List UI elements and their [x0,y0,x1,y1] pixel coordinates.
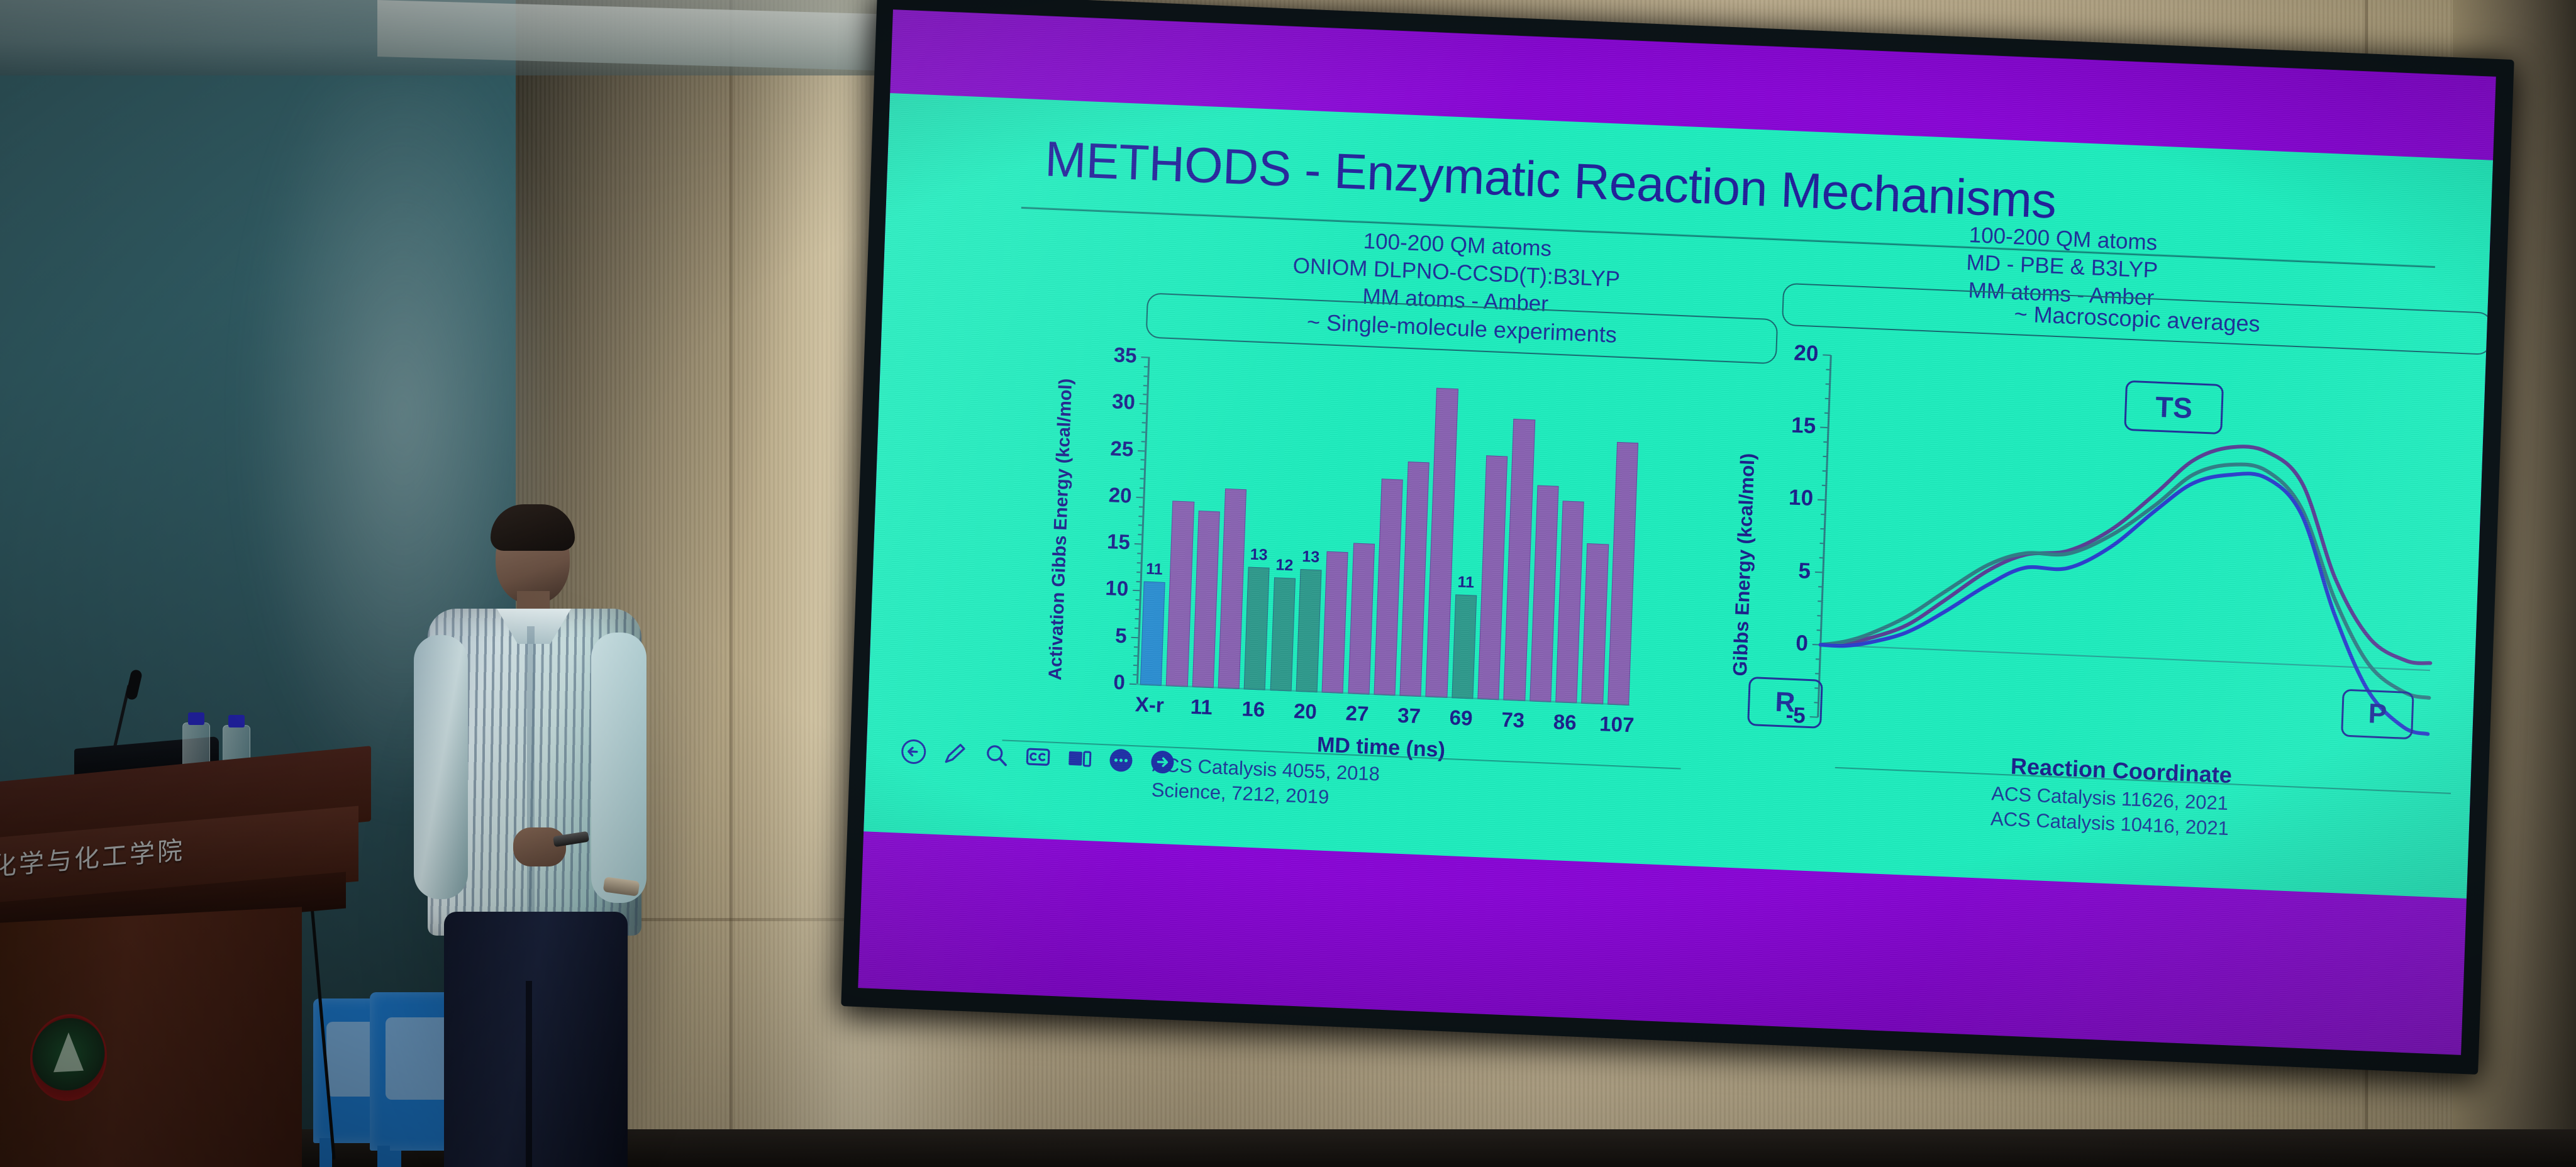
y-axis-tick [1135,609,1139,610]
pen-icon[interactable] [942,740,968,766]
x-axis-tick-label: 86 [1538,709,1592,736]
bar [1192,511,1219,689]
presenter-hair [491,504,575,551]
y-axis-tick [1141,460,1145,461]
bar-value-label: 11 [1140,560,1169,579]
bar-value-label: 12 [1270,556,1299,575]
energy-profile-curve [1821,429,2438,670]
y-axis-tick-label: 5 [1752,556,1811,584]
y-axis-tick [1138,450,1145,451]
y-axis-tick [1133,665,1137,666]
y-axis-tick [1140,478,1143,479]
y-axis-tick-label: 15 [1078,528,1130,554]
wall-mounted-display: METHODS - Enzymatic Reaction Mechanisms … [841,0,2514,1075]
y-axis-tick [1138,534,1141,535]
slide-body: METHODS - Enzymatic Reaction Mechanisms … [863,93,2493,899]
y-axis-tick-label: -5 [1747,701,1806,729]
bar [1452,594,1477,699]
x-axis-tick-label: 11 [1175,694,1229,721]
bar [1607,442,1638,705]
y-axis-tick [1136,599,1140,600]
y-axis-tick-label: 10 [1077,575,1129,601]
y-axis-tick [1139,506,1143,507]
bar [1504,419,1535,701]
bar [1244,567,1270,690]
bar-value-label: 13 [1245,545,1273,565]
bar [1296,569,1321,692]
bar [1582,543,1609,704]
y-axis-tick [1141,357,1148,358]
x-axis-tick-label: 107 [1590,711,1644,738]
x-axis-tick-label: 16 [1226,696,1280,722]
screenshot-root: METHODS - Enzymatic Reaction Mechanisms … [0,0,2576,1167]
y-axis-tick [1141,431,1145,433]
y-axis-tick [1136,581,1140,582]
previous-slide-arrow-icon[interactable] [901,739,926,765]
y-axis-tick-label: 25 [1082,435,1134,461]
y-axis-tick [1130,683,1136,685]
y-axis-tick [1135,543,1141,545]
y-axis-tick-label: 20 [1760,339,1819,367]
y-axis-tick [1137,553,1141,554]
y-axis-tick-label: 0 [1073,668,1125,694]
presenter-right-arm [591,633,647,903]
y-axis-tick [1143,375,1147,377]
y-axis-tick [1140,487,1143,489]
y-axis-tick [1138,516,1142,517]
y-axis-tick [1143,394,1146,395]
presenter-trousers [444,912,628,1167]
bar-value-label: 13 [1297,548,1325,567]
y-axis-tick [1140,403,1146,404]
bar [1140,581,1165,686]
y-axis-title: Activation Gibbs Energy (kcal/mol) [1045,378,1077,680]
presenter-shirt-placket [527,626,535,928]
display-screen: METHODS - Enzymatic Reaction Mechanisms … [858,9,2496,1055]
x-axis-tick-label: 69 [1434,705,1488,731]
y-axis-tick [1133,590,1140,591]
y-axis-tick [1140,468,1144,470]
presenter-leg-split [526,981,532,1167]
bar [1166,501,1194,687]
energy-profile-curve [1819,447,2437,698]
lectern: 化学与化工学院 [0,764,384,1167]
x-axis-tick-label: 37 [1382,703,1436,729]
energy-profile-plot [1696,335,2460,819]
y-axis-tick [1134,646,1138,648]
y-axis-tick-label: 15 [1758,411,1816,439]
x-axis-tick-label: 73 [1486,707,1540,734]
x-axis-tick-label: 27 [1330,700,1384,727]
y-axis-tick-label: 10 [1755,484,1813,512]
next-slide-arrow-icon[interactable] [1150,749,1175,775]
more-options-icon[interactable] [1108,747,1134,773]
bar [1400,462,1430,697]
closed-caption-icon[interactable] [1025,744,1051,770]
presenter-left-arm [414,635,468,899]
y-axis-tick-label: 35 [1085,341,1137,367]
y-axis-tick [1135,628,1138,629]
y-axis-tick [1138,525,1142,526]
bar [1348,543,1375,695]
bar-chart: 05101520253035Activation Gibbs Energy (k… [1018,338,1667,780]
x-axis-tick-label: X-r [1123,692,1177,718]
y-axis-tick [1133,674,1136,675]
citation-left-2: Science, 7212, 2019 [1151,778,1330,809]
bottle-cap [228,715,245,727]
wood-seam [730,0,733,1167]
bar [1374,479,1402,696]
y-axis-tick [1135,618,1139,619]
bar [1218,488,1247,689]
presenter [402,503,667,1167]
x-axis-tick-label: 20 [1279,699,1333,725]
bottle-cap [188,712,204,725]
bar [1555,501,1584,704]
y-axis-tick-label: 30 [1083,389,1135,414]
bar [1322,551,1348,694]
energy-profile-chart: TS R P -505101520Gibbs Energy (kcal/mol)… [1696,335,2460,819]
emblem-tree-icon [53,1032,84,1073]
bar [1270,577,1296,692]
y-axis-tick [1144,366,1148,367]
y-axis-tick [1142,422,1146,423]
cable [309,890,335,1160]
y-axis-tick [1131,636,1138,638]
bar [1529,485,1558,702]
annotation-p: P [2341,689,2414,740]
magnifier-icon[interactable] [984,742,1009,768]
y-axis-tick [1133,655,1137,656]
y-axis-tick [1143,385,1147,386]
y-axis-tick-label: 5 [1075,622,1127,648]
bar-value-label: 11 [1452,573,1480,592]
slide-view-icon[interactable] [1067,746,1092,772]
y-axis-tick-label: 20 [1080,482,1132,507]
annotation-ts: TS [2124,380,2224,434]
y-axis-tick [1136,497,1143,498]
y-axis-tick [1142,412,1146,414]
presenter-hand [513,827,566,866]
y-axis-tick [1141,441,1145,442]
y-axis-tick-label: 0 [1750,629,1808,656]
bar [1477,455,1507,700]
